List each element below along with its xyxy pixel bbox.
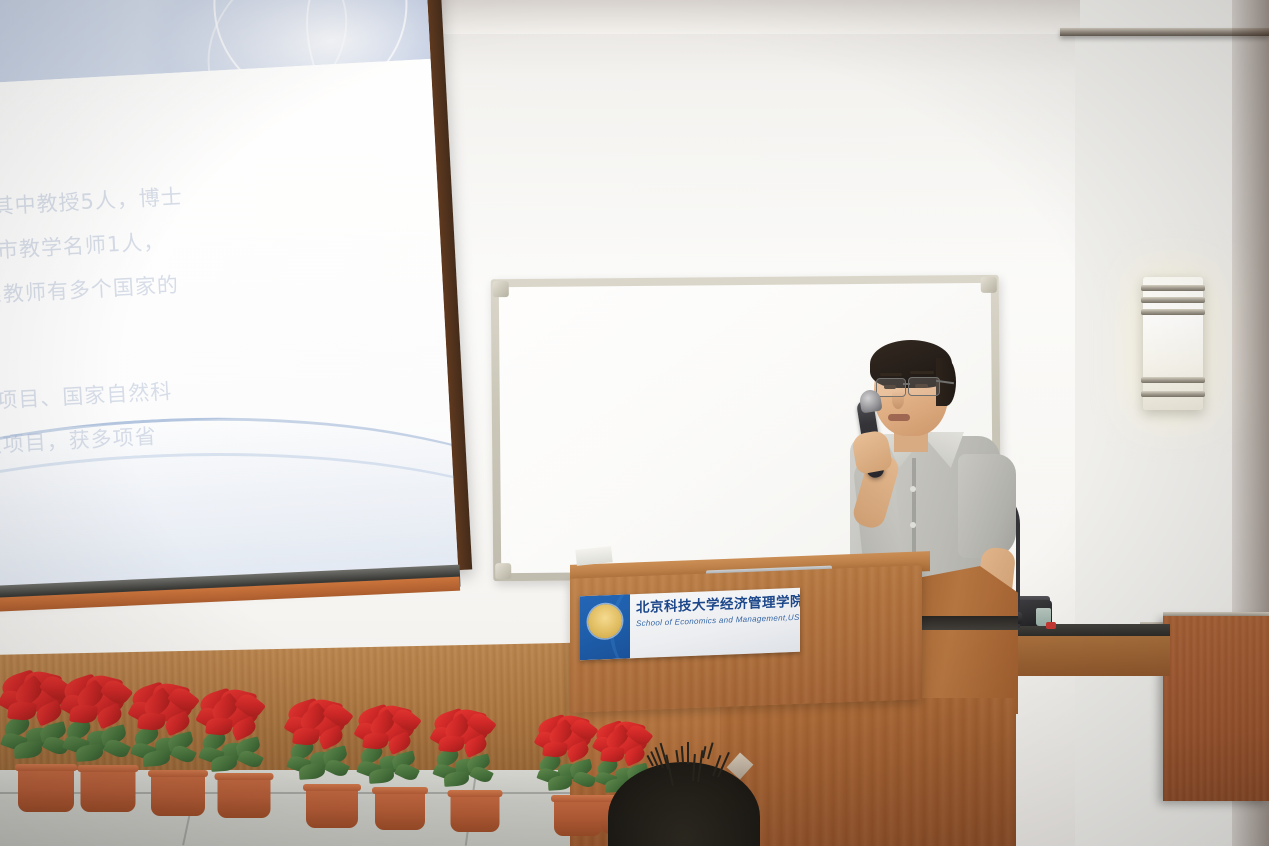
flower-pot xyxy=(151,770,205,816)
sconce-band xyxy=(1141,391,1205,397)
green-leaf xyxy=(103,736,131,760)
green-leaf xyxy=(13,741,42,759)
green-leaf xyxy=(237,748,264,771)
hair-wisp xyxy=(692,754,696,781)
hair-wisp xyxy=(687,742,689,764)
poinsettia-bloom xyxy=(292,727,320,747)
green-leaf xyxy=(444,771,470,787)
poinsettia-bloom xyxy=(69,704,98,725)
whiteboard-corner xyxy=(981,277,997,293)
green-leaf xyxy=(143,750,171,767)
presenter-mouth xyxy=(888,414,910,421)
green-leaf xyxy=(548,775,573,791)
flower-pot xyxy=(218,773,271,818)
flower-pot-rim xyxy=(215,773,274,780)
poinsettia-bloom xyxy=(600,746,624,763)
poinsettia-plant xyxy=(432,710,518,832)
lectern-side xyxy=(918,566,1018,714)
flower-pot xyxy=(375,787,425,830)
green-leaf xyxy=(324,757,350,779)
flower-pot-rim xyxy=(448,790,503,797)
green-leaf xyxy=(394,761,420,783)
side-table-body xyxy=(1000,636,1170,676)
green-leaf xyxy=(299,763,326,780)
poinsettia-row xyxy=(0,0,700,846)
sconce-band xyxy=(1141,285,1205,291)
wood-wall-panel xyxy=(1163,616,1269,801)
lectern-shelf xyxy=(922,616,1018,630)
shirt-button xyxy=(910,522,916,528)
flower-pot xyxy=(81,765,136,812)
presenter-nose xyxy=(892,391,904,409)
green-leaf xyxy=(211,755,238,772)
poinsettia-plant xyxy=(356,706,444,830)
poinsettia-bloom xyxy=(438,735,465,754)
red-object xyxy=(1046,622,1056,629)
lectern-base xyxy=(716,698,1016,846)
sconce-band xyxy=(1141,309,1205,315)
shirt-button xyxy=(910,486,916,492)
green-leaf xyxy=(75,744,103,762)
green-leaf xyxy=(469,764,494,785)
eyeglasses-bridge xyxy=(903,383,910,385)
flower-pot xyxy=(306,784,358,828)
poinsettia-bloom xyxy=(362,732,389,751)
presenter-eyebrow xyxy=(880,373,902,376)
lecture-hall-photo: 管理学院 简介 贸易系有专职教师17人，其中教授5人，博士 教授7人，讲师5人。… xyxy=(0,0,1269,846)
flower-pot xyxy=(451,790,500,832)
green-leaf xyxy=(170,743,197,766)
poinsettia-bloom xyxy=(137,712,166,732)
poinsettia-bloom xyxy=(542,741,567,758)
sconce-band xyxy=(1141,377,1205,383)
poinsettia-plant xyxy=(198,690,290,818)
flower-pot-rim xyxy=(372,787,428,794)
flower-pot-rim xyxy=(303,784,361,791)
presenter-eyebrow xyxy=(910,371,934,374)
sconce-band xyxy=(1141,297,1205,303)
poinsettia-bloom xyxy=(205,717,233,737)
green-leaf xyxy=(369,768,395,784)
presenter-right-sleeve xyxy=(958,454,1016,558)
poinsettia-bloom xyxy=(7,701,37,722)
wall-sconce-light xyxy=(1143,277,1203,410)
